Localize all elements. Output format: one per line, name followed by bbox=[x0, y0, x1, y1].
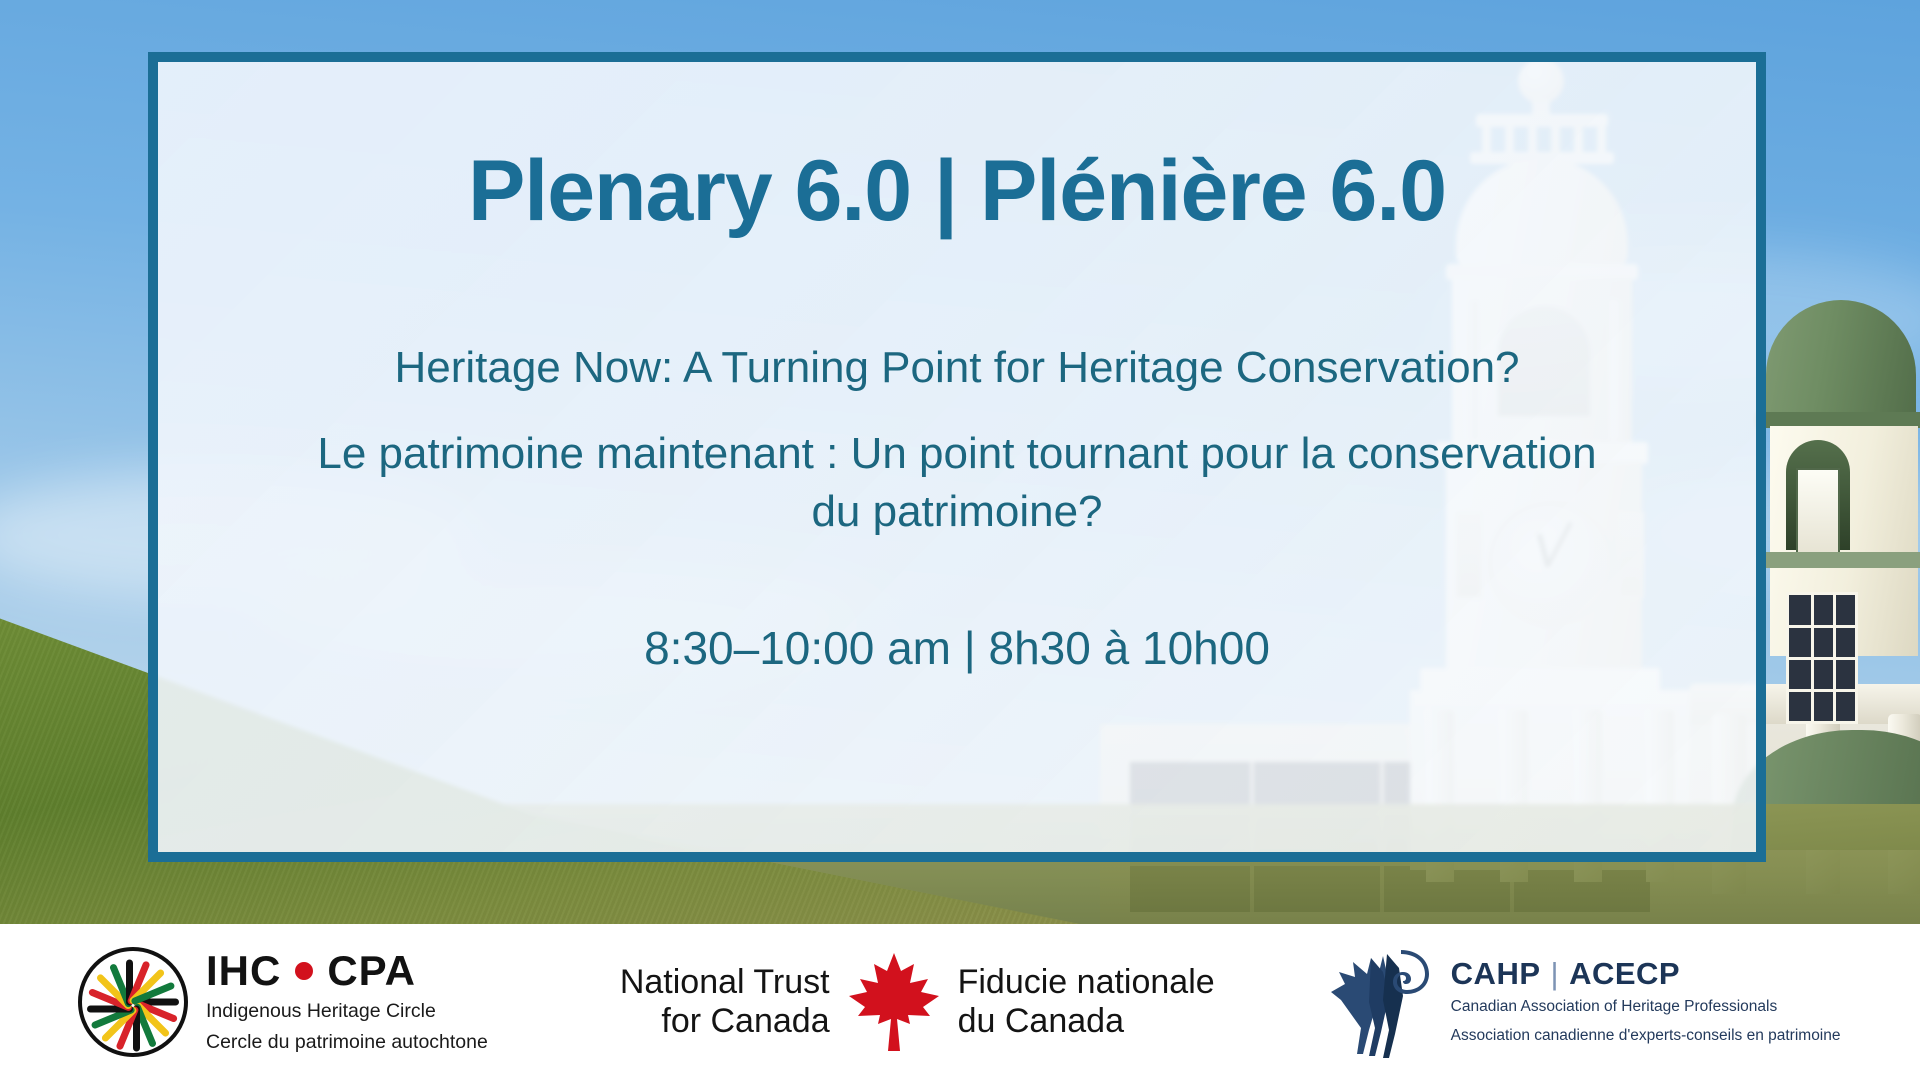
ihc-name-fr: Cercle du patrimoine autochtone bbox=[206, 1030, 488, 1054]
cahp-separator: | bbox=[1551, 956, 1560, 991]
logo-cahp-acecp: CAHP|ACECP Canadian Association of Herit… bbox=[1327, 944, 1841, 1060]
subtitle-english: Heritage Now: A Turning Point for Herita… bbox=[394, 340, 1519, 395]
copper-roof bbox=[1766, 300, 1916, 420]
cahp-acronym: CAHP|ACECP bbox=[1451, 958, 1841, 989]
sponsor-logo-bar: IHC CPA Indigenous Heritage Circle Cercl… bbox=[0, 924, 1920, 1080]
red-dot-icon bbox=[295, 962, 313, 980]
content-frame: Plenary 6.0 | Plénière 6.0 Heritage Now:… bbox=[148, 52, 1766, 862]
page-title: Plenary 6.0 | Plénière 6.0 bbox=[468, 146, 1446, 236]
logo-national-trust: National Trust for Canada Fiducie nation… bbox=[620, 950, 1215, 1054]
session-time: 8:30–10:00 am | 8h30 à 10h00 bbox=[644, 621, 1270, 675]
cahp-acronym-fr: ACECP bbox=[1569, 956, 1680, 991]
slide-content: Plenary 6.0 | Plénière 6.0 Heritage Now:… bbox=[158, 62, 1756, 852]
ihc-acronym: IHC CPA bbox=[206, 950, 488, 992]
nt-fr-line1: Fiducie nationale bbox=[958, 963, 1215, 1002]
nt-fr-line2: du Canada bbox=[958, 1002, 1215, 1041]
ihc-acronym-fr: CPA bbox=[327, 950, 416, 992]
ihc-acronym-en: IHC bbox=[206, 950, 281, 992]
slide-canvas: Plenary 6.0 | Plénière 6.0 Heritage Now:… bbox=[0, 0, 1920, 1080]
cahp-acronym-en: CAHP bbox=[1451, 956, 1541, 991]
maple-leaf-icon bbox=[844, 950, 944, 1054]
nt-en-line2: for Canada bbox=[620, 1002, 830, 1041]
stylized-maple-leaf-scroll-icon bbox=[1327, 944, 1439, 1060]
medicine-wheel-circle-icon bbox=[78, 947, 188, 1057]
cahp-name-fr: Association canadienne d'experts-conseil… bbox=[1451, 1026, 1841, 1046]
logo-ihc-cpa: IHC CPA Indigenous Heritage Circle Cercl… bbox=[78, 947, 488, 1057]
ihc-name-en: Indigenous Heritage Circle bbox=[206, 999, 488, 1023]
cahp-name-en: Canadian Association of Heritage Profess… bbox=[1451, 997, 1841, 1017]
subtitle-french: Le patrimoine maintenant : Un point tour… bbox=[307, 425, 1607, 541]
tower-window bbox=[1786, 592, 1858, 724]
nt-en-line1: National Trust bbox=[620, 963, 830, 1002]
